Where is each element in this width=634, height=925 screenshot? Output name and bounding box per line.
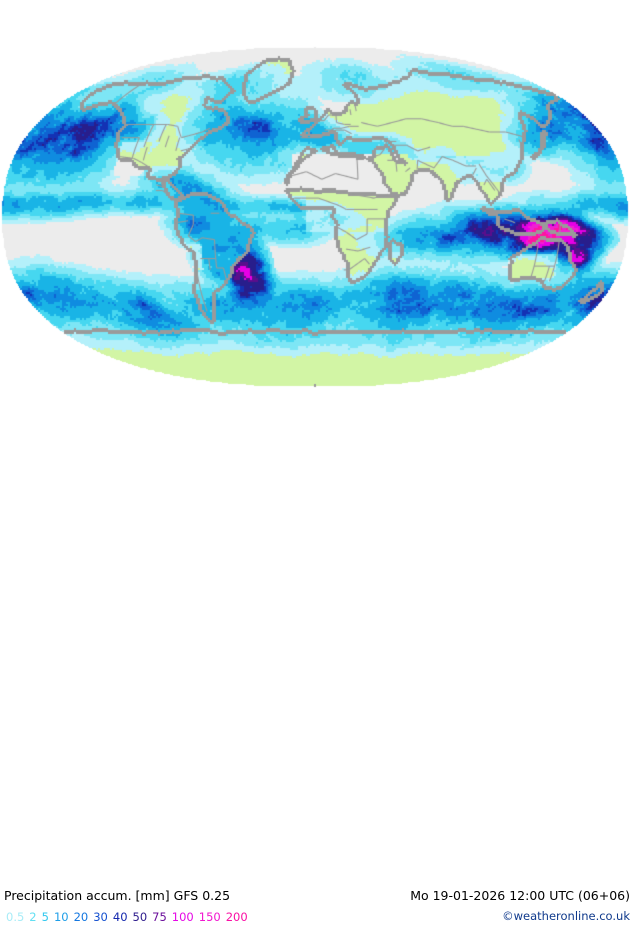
map-footer: Precipitation accum. [mm] GFS 0.25 Mo 19… <box>0 440 634 490</box>
map-canvas[interactable] <box>0 0 634 440</box>
weather-map-page: Precipitation accum. [mm] GFS 0.25 Mo 19… <box>0 0 634 490</box>
valid-time-label: Mo 19-01-2026 12:00 UTC (06+06) <box>0 888 630 903</box>
copyright-label: ©weatheronline.co.uk <box>0 909 630 923</box>
precipitation-map[interactable] <box>0 0 634 440</box>
